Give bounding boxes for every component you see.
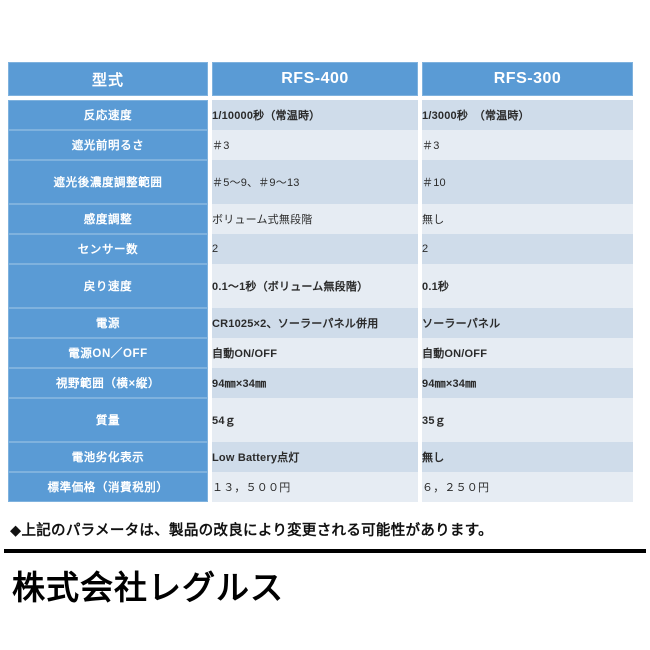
table-row: 反応速度1/10000秒（常温時）1/3000秒 （常温時） [8,100,633,130]
value-cell-model-2: ６，２５０円 [422,472,633,502]
value-cell-model-2: ＃3 [422,130,633,160]
document-page: 型式RFS-400RFS-300反応速度1/10000秒（常温時）1/3000秒… [0,0,650,650]
row-label-cell: 感度調整 [8,204,208,234]
table-row: 遮光前明るさ＃3＃3 [8,130,633,160]
value-cell-model-1: 54ｇ [212,398,418,442]
value-cell-model-1: ＃3 [212,130,418,160]
specification-table: 型式RFS-400RFS-300反応速度1/10000秒（常温時）1/3000秒… [8,62,633,502]
row-label-cell: 遮光後濃度調整範囲 [8,160,208,204]
value-cell-model-1: 1/10000秒（常温時） [212,100,418,130]
value-cell-model-2: 0.1秒 [422,264,633,308]
value-cell-model-2: 自動ON/OFF [422,338,633,368]
table-row: 標準価格（消費税別）１３，５００円６，２５０円 [8,472,633,502]
horizontal-rule-divider [4,549,646,553]
value-cell-model-1: CR1025×2、ソーラーパネル併用 [212,308,418,338]
value-cell-model-2: ＃10 [422,160,633,204]
value-cell-model-2: 2 [422,234,633,264]
value-cell-model-1: 自動ON/OFF [212,338,418,368]
value-cell-model-2: ソーラーパネル [422,308,633,338]
row-label-cell: 視野範囲（横×縦） [8,368,208,398]
specification-table-body: 型式RFS-400RFS-300反応速度1/10000秒（常温時）1/3000秒… [8,62,633,502]
header-cell-model-1: RFS-400 [212,62,418,96]
value-cell-model-2: 94㎜×34㎜ [422,368,633,398]
value-cell-model-1: ＃5〜9、＃9〜13 [212,160,418,204]
value-cell-model-1: ボリューム式無段階 [212,204,418,234]
value-cell-model-1: 2 [212,234,418,264]
table-row: 電源CR1025×2、ソーラーパネル併用ソーラーパネル [8,308,633,338]
table-row: 視野範囲（横×縦）94㎜×34㎜94㎜×34㎜ [8,368,633,398]
row-label-cell: 質量 [8,398,208,442]
table-row: 遮光後濃度調整範囲＃5〜9、＃9〜13＃10 [8,160,633,204]
value-cell-model-2: 無し [422,442,633,472]
table-row: 戻り速度0.1〜1秒（ボリューム無段階）0.1秒 [8,264,633,308]
value-cell-model-2: 1/3000秒 （常温時） [422,100,633,130]
row-label-cell: 電源 [8,308,208,338]
row-label-cell: 遮光前明るさ [8,130,208,160]
table-row: 電源ON／OFF自動ON/OFF自動ON/OFF [8,338,633,368]
company-name: 株式会社レグルス [12,561,284,609]
table-header-row: 型式RFS-400RFS-300 [8,62,633,96]
value-cell-model-1: 94㎜×34㎜ [212,368,418,398]
header-cell-label: 型式 [8,62,208,96]
header-cell-model-2: RFS-300 [422,62,633,96]
footnote-text: ◆上記のパラメータは、製品の改良により変更される可能性があります。 [10,519,493,540]
value-cell-model-2: 35ｇ [422,398,633,442]
row-label-cell: 反応速度 [8,100,208,130]
value-cell-model-1: Low Battery点灯 [212,442,418,472]
value-cell-model-2: 無し [422,204,633,234]
row-label-cell: 標準価格（消費税別） [8,472,208,502]
table-row: センサー数22 [8,234,633,264]
table-row: 質量54ｇ35ｇ [8,398,633,442]
table-row: 電池劣化表示Low Battery点灯無し [8,442,633,472]
row-label-cell: 戻り速度 [8,264,208,308]
row-label-cell: 電池劣化表示 [8,442,208,472]
row-label-cell: センサー数 [8,234,208,264]
table-row: 感度調整ボリューム式無段階無し [8,204,633,234]
row-label-cell: 電源ON／OFF [8,338,208,368]
value-cell-model-1: 0.1〜1秒（ボリューム無段階） [212,264,418,308]
value-cell-model-1: １３，５００円 [212,472,418,502]
